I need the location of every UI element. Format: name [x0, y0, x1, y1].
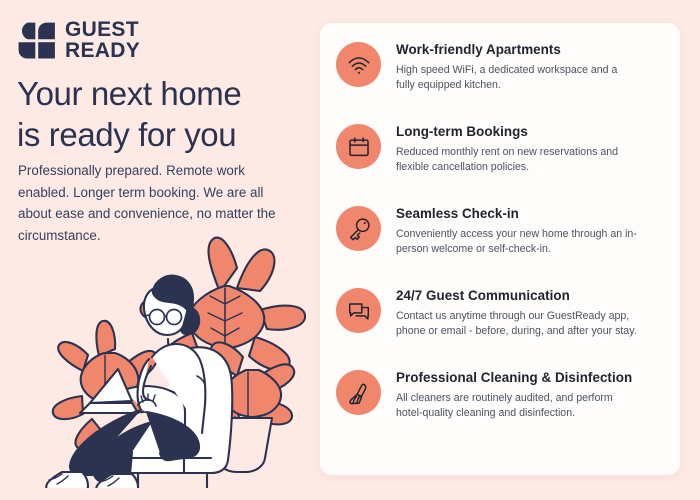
- chat-bubbles-icon: [336, 288, 381, 333]
- feature-title: Professional Cleaning & Disinfection: [396, 370, 664, 387]
- feature-text: Seamless Check-in Conveniently access yo…: [396, 205, 664, 257]
- feature-description: All cleaners are routinely audited, and …: [396, 391, 639, 422]
- calendar-icon: [336, 124, 381, 169]
- headline-line-1: Your next home: [17, 74, 307, 115]
- feature-list: Work-friendly Apartments High speed WiFi…: [336, 41, 664, 433]
- key-icon: [336, 206, 381, 251]
- feature-description: High speed WiFi, a dedicated workspace a…: [396, 63, 639, 94]
- brand-word-line1: GUEST: [65, 20, 140, 41]
- feature-text: 24/7 Guest Communication Contact us anyt…: [396, 287, 664, 339]
- left-column: GUEST READY Your next home is ready for …: [0, 0, 310, 500]
- promo-page: GUEST READY Your next home is ready for …: [0, 0, 700, 500]
- person-working-on-laptop-in-armchair-with-plants-illustration: [24, 226, 306, 488]
- list-item: Long-term Bookings Reduced monthly rent …: [336, 123, 664, 187]
- page-title: Your next home is ready for you: [17, 74, 307, 155]
- wifi-icon: [336, 42, 381, 87]
- headline-line-2: is ready for you: [17, 115, 307, 156]
- feature-description: Conveniently access your new home throug…: [396, 227, 639, 258]
- feature-description: Contact us anytime through our GuestRead…: [396, 309, 639, 340]
- list-item: Professional Cleaning & Disinfection All…: [336, 369, 664, 433]
- broom-icon: [336, 370, 381, 415]
- feature-text: Professional Cleaning & Disinfection All…: [396, 369, 664, 421]
- feature-title: Work-friendly Apartments: [396, 42, 664, 59]
- list-item: Work-friendly Apartments High speed WiFi…: [336, 41, 664, 105]
- guestready-logo-icon: [18, 22, 56, 59]
- feature-title: Long-term Bookings: [396, 124, 664, 141]
- feature-text: Long-term Bookings Reduced monthly rent …: [396, 123, 664, 175]
- brand-word-line2: READY: [65, 41, 140, 62]
- feature-title: 24/7 Guest Communication: [396, 288, 664, 305]
- features-card: Work-friendly Apartments High speed WiFi…: [320, 23, 680, 475]
- brand-wordmark: GUEST READY: [65, 20, 140, 61]
- list-item: 24/7 Guest Communication Contact us anyt…: [336, 287, 664, 351]
- feature-title: Seamless Check-in: [396, 206, 664, 223]
- list-item: Seamless Check-in Conveniently access yo…: [336, 205, 664, 269]
- brand-logo[interactable]: GUEST READY: [18, 20, 140, 61]
- feature-description: Reduced monthly rent on new reservations…: [396, 145, 639, 176]
- feature-text: Work-friendly Apartments High speed WiFi…: [396, 41, 664, 93]
